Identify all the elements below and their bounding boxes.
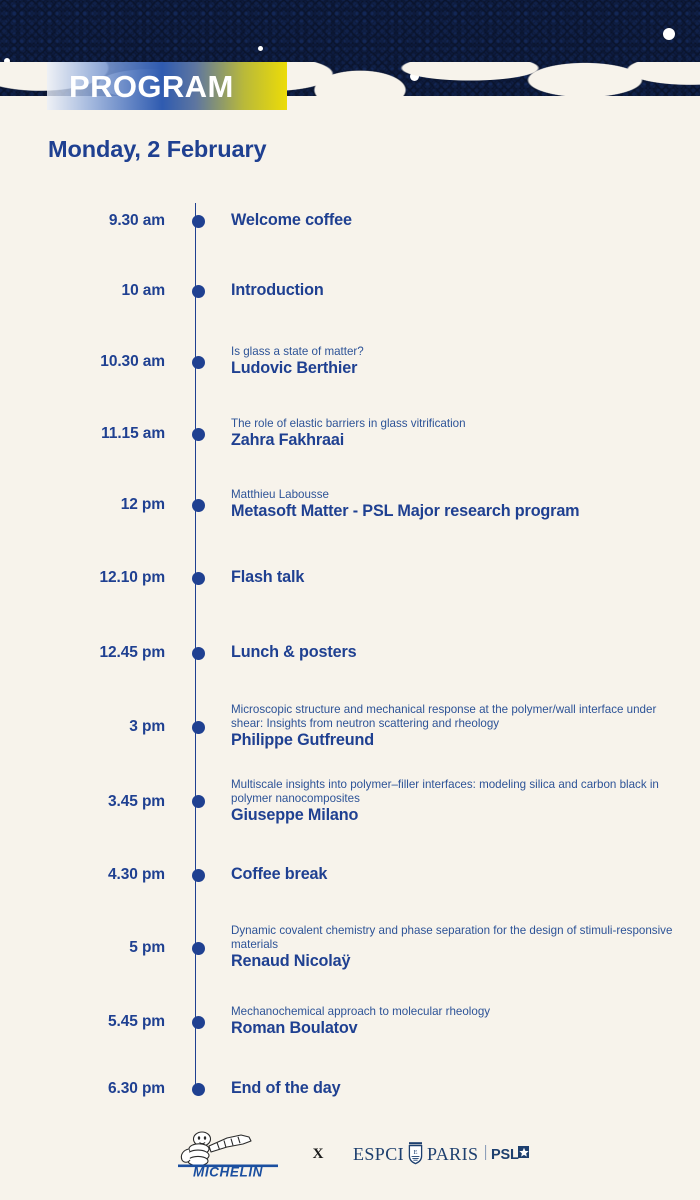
schedule-row[interactable]: 12.10 pm Flash talk xyxy=(0,540,700,616)
schedule-time: 6.30 pm xyxy=(0,1080,165,1098)
schedule-timeline: 9.30 am Welcome coffee 10 am Introductio… xyxy=(0,186,700,1119)
timeline-dot-cell xyxy=(165,215,231,228)
timeline-dot-cell xyxy=(165,285,231,298)
schedule-content: Dynamic covalent chemistry and phase sep… xyxy=(231,924,700,972)
schedule-talk-title: The role of elastic barriers in glass vi… xyxy=(231,417,686,431)
timeline-dot-icon xyxy=(192,572,205,585)
psl-wordmark: PSL xyxy=(491,1147,519,1163)
timeline-dot-icon xyxy=(192,795,205,808)
timeline-dot-icon xyxy=(192,647,205,660)
schedule-content: Microscopic structure and mechanical res… xyxy=(231,703,700,751)
timeline-dot-cell xyxy=(165,942,231,955)
timeline-dot-icon xyxy=(192,285,205,298)
michelin-logo: MICHELIN xyxy=(171,1130,283,1178)
page-title: PROGRAM xyxy=(47,71,234,102)
schedule-time: 4.30 pm xyxy=(0,866,165,884)
timeline-dot-cell xyxy=(165,572,231,585)
schedule-row[interactable]: 3.45 pm Multiscale insights into polymer… xyxy=(0,764,700,839)
schedule-headline: Metasoft Matter - PSL Major research pro… xyxy=(231,502,686,521)
timeline-dot-icon xyxy=(192,1016,205,1029)
schedule-row[interactable]: 3 pm Microscopic structure and mechanica… xyxy=(0,690,700,764)
footer-logos: MICHELIN X ESPCI E PARIS PSL xyxy=(0,1130,700,1178)
timeline-dot-icon xyxy=(192,215,205,228)
espci-paris-psl-logo: ESPCI E PARIS PSL xyxy=(353,1139,529,1169)
psl-star-icon xyxy=(518,1146,529,1158)
schedule-speaker: Renaud Nicolaÿ xyxy=(231,952,686,971)
schedule-content: The role of elastic barriers in glass vi… xyxy=(231,417,700,451)
schedule-content: Is glass a state of matter? Ludovic Bert… xyxy=(231,345,700,379)
schedule-row[interactable]: 5.45 pm Mechanochemical approach to mole… xyxy=(0,985,700,1059)
schedule-row[interactable]: 5 pm Dynamic covalent chemistry and phas… xyxy=(0,911,700,985)
schedule-time: 5 pm xyxy=(0,939,165,957)
schedule-date: Monday, 2 February xyxy=(48,136,266,163)
schedule-row[interactable]: 11.15 am The role of elastic barriers in… xyxy=(0,398,700,470)
white-speck-icon xyxy=(258,46,263,51)
timeline-dot-icon xyxy=(192,356,205,369)
schedule-talk-title: Mechanochemical approach to molecular rh… xyxy=(231,1005,686,1019)
schedule-speaker: Philippe Gutfreund xyxy=(231,731,686,750)
schedule-content: Lunch & posters xyxy=(231,643,700,662)
white-speck-icon xyxy=(663,28,675,40)
schedule-content: Introduction xyxy=(231,281,700,300)
logo-divider xyxy=(485,1145,486,1160)
michelin-bibendum-icon: MICHELIN xyxy=(171,1130,283,1178)
timeline-dot-icon xyxy=(192,942,205,955)
espci-crest-icon: E xyxy=(409,1142,422,1163)
schedule-talk-title: Microscopic structure and mechanical res… xyxy=(231,703,686,731)
schedule-time: 9.30 am xyxy=(0,212,165,230)
timeline-dot-icon xyxy=(192,721,205,734)
timeline-dot-cell xyxy=(165,721,231,734)
schedule-row[interactable]: 12.45 pm Lunch & posters xyxy=(0,616,700,690)
timeline-dot-cell xyxy=(165,1083,231,1096)
schedule-content: Coffee break xyxy=(231,865,700,884)
schedule-content: Multiscale insights into polymer–filler … xyxy=(231,778,700,826)
schedule-headline: Welcome coffee xyxy=(231,211,686,230)
timeline-dot-cell xyxy=(165,1016,231,1029)
schedule-time: 10 am xyxy=(0,282,165,300)
program-ribbon: PROGRAM xyxy=(47,62,287,110)
schedule-content: End of the day xyxy=(231,1079,700,1098)
schedule-content: Welcome coffee xyxy=(231,211,700,230)
schedule-talk-title: Dynamic covalent chemistry and phase sep… xyxy=(231,924,686,952)
schedule-time: 10.30 am xyxy=(0,353,165,371)
schedule-speaker: Giuseppe Milano xyxy=(231,806,686,825)
schedule-talk-title: Is glass a state of matter? xyxy=(231,345,686,359)
schedule-time: 3.45 pm xyxy=(0,793,165,811)
schedule-speaker: Ludovic Berthier xyxy=(231,359,686,378)
schedule-time: 5.45 pm xyxy=(0,1013,165,1031)
schedule-time: 12.10 pm xyxy=(0,569,165,587)
schedule-headline: Lunch & posters xyxy=(231,643,686,662)
schedule-time: 12.45 pm xyxy=(0,644,165,662)
svg-text:E: E xyxy=(414,1149,418,1156)
espci-psl-lockup-icon: ESPCI E PARIS PSL xyxy=(353,1139,529,1169)
schedule-content: Flash talk xyxy=(231,568,700,587)
schedule-speaker: Zahra Fakhraai xyxy=(231,431,686,450)
timeline-dot-cell xyxy=(165,428,231,441)
michelin-wordmark: MICHELIN xyxy=(193,1165,263,1179)
espci-wordmark: ESPCI xyxy=(353,1144,404,1164)
schedule-time: 11.15 am xyxy=(0,425,165,443)
schedule-headline: End of the day xyxy=(231,1079,686,1098)
timeline-dot-icon xyxy=(192,428,205,441)
timeline-dot-cell xyxy=(165,647,231,660)
partnership-x-separator: X xyxy=(309,1146,328,1163)
timeline-dot-icon xyxy=(192,499,205,512)
timeline-dot-cell xyxy=(165,795,231,808)
schedule-headline: Flash talk xyxy=(231,568,686,587)
schedule-speaker: Roman Boulatov xyxy=(231,1019,686,1038)
timeline-dot-cell xyxy=(165,869,231,882)
timeline-dot-icon xyxy=(192,1083,205,1096)
schedule-talk-title: Multiscale insights into polymer–filler … xyxy=(231,778,686,806)
schedule-time: 12 pm xyxy=(0,496,165,514)
timeline-dot-icon xyxy=(192,869,205,882)
schedule-headline: Introduction xyxy=(231,281,686,300)
schedule-row[interactable]: 4.30 pm Coffee break xyxy=(0,839,700,911)
schedule-time: 3 pm xyxy=(0,718,165,736)
schedule-headline: Coffee break xyxy=(231,865,686,884)
schedule-row[interactable]: 9.30 am Welcome coffee xyxy=(0,186,700,256)
schedule-row[interactable]: 10.30 am Is glass a state of matter? Lud… xyxy=(0,326,700,398)
schedule-row[interactable]: 6.30 pm End of the day xyxy=(0,1059,700,1119)
schedule-content: Mechanochemical approach to molecular rh… xyxy=(231,1005,700,1039)
schedule-content: Matthieu Labousse Metasoft Matter - PSL … xyxy=(231,488,700,522)
schedule-speaker: Matthieu Labousse xyxy=(231,488,686,502)
schedule-row[interactable]: 12 pm Matthieu Labousse Metasoft Matter … xyxy=(0,470,700,540)
timeline-dot-cell xyxy=(165,499,231,512)
paris-wordmark: PARIS xyxy=(427,1144,478,1164)
timeline-dot-cell xyxy=(165,356,231,369)
schedule-row[interactable]: 10 am Introduction xyxy=(0,256,700,326)
